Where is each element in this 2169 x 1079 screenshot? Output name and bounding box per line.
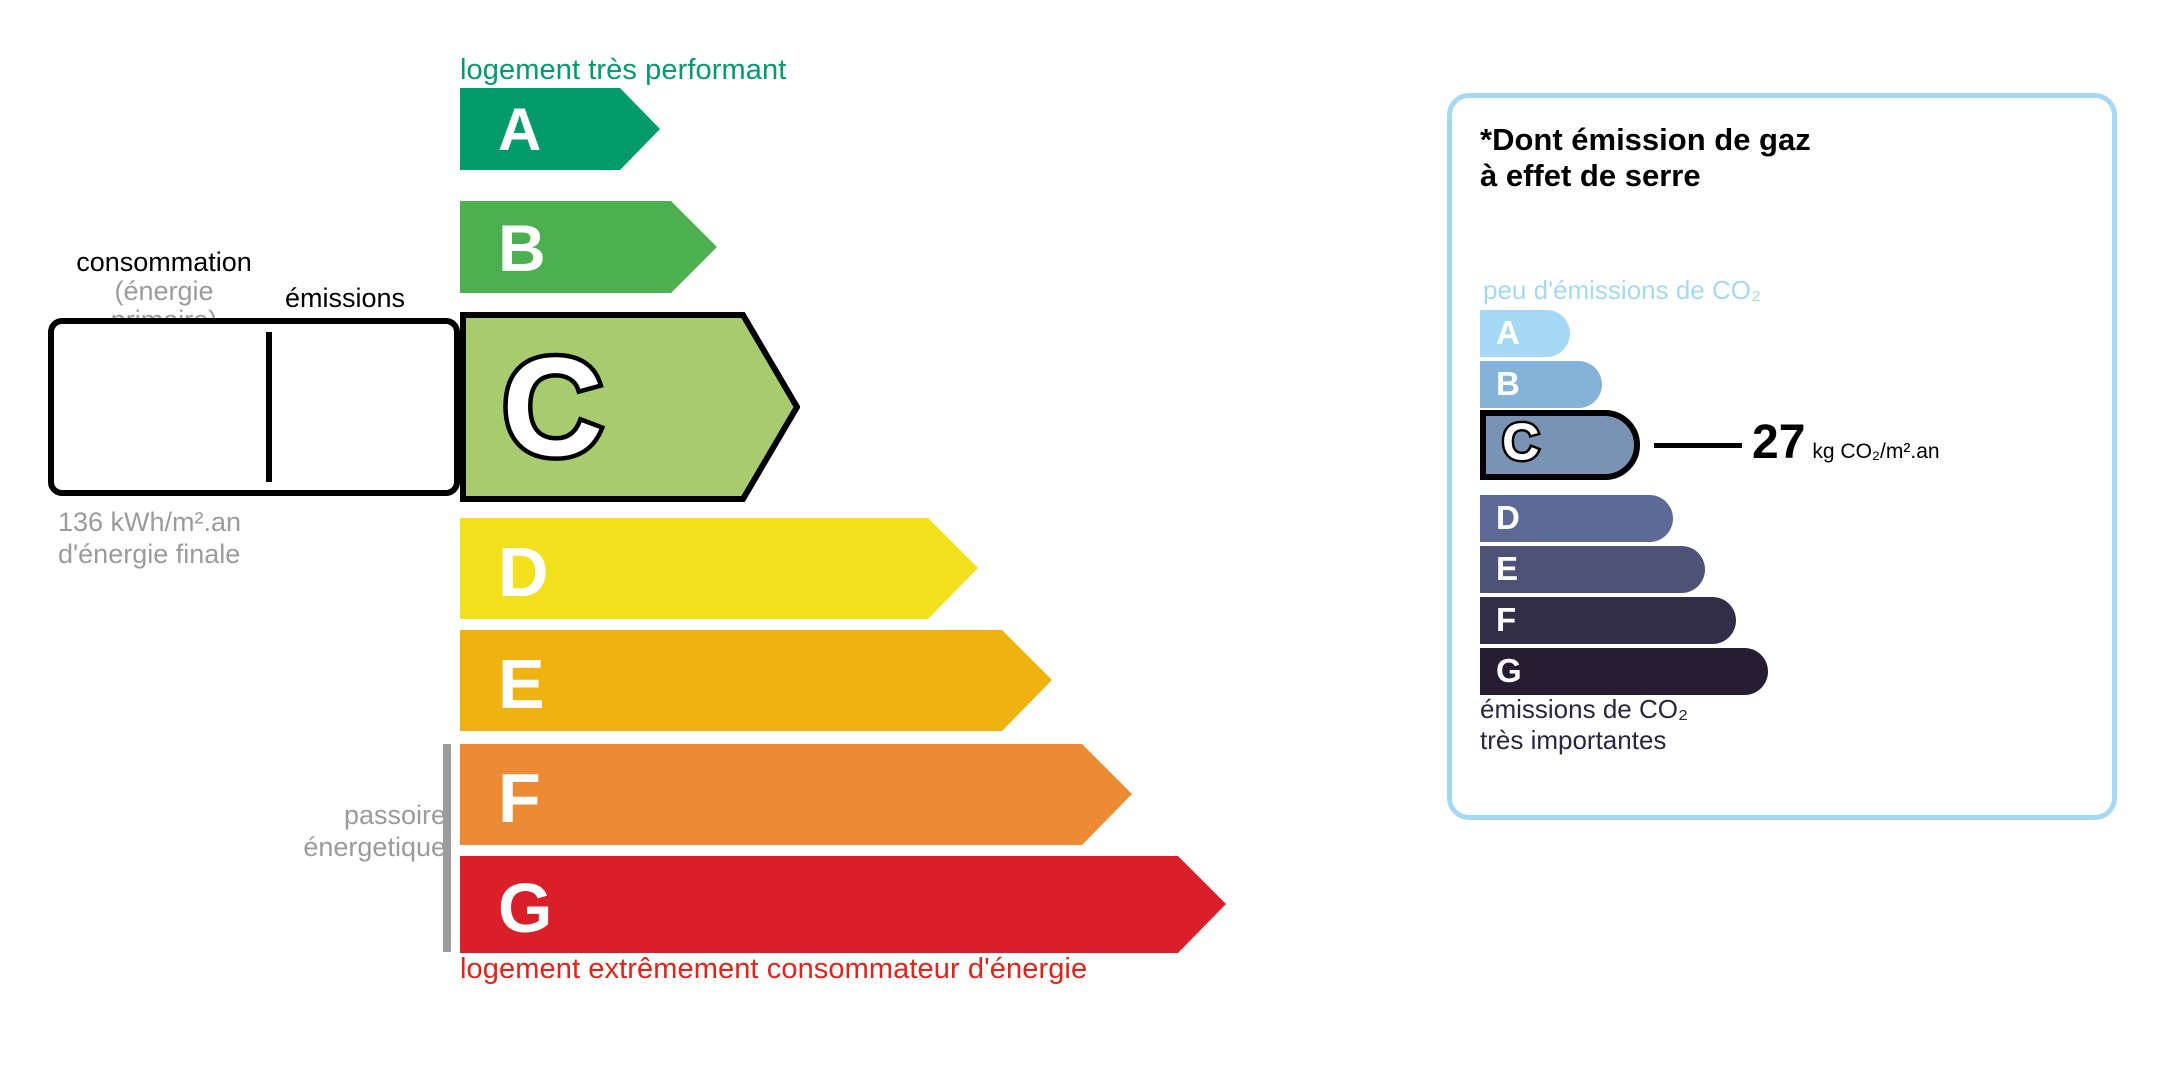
- co2-title-line2: à effet de serre: [1480, 158, 1811, 194]
- energy-band-a: A: [460, 88, 660, 170]
- passoire-line2: énergetique: [256, 832, 446, 864]
- box-divider: [266, 332, 272, 482]
- co2-band-g-letter: G: [1496, 652, 1522, 690]
- co2-title-line1: *Dont émission de gaz: [1480, 122, 1811, 158]
- final-energy-line1: 136 kWh/m².an: [58, 507, 241, 539]
- co2-band-f: F: [1480, 597, 1736, 644]
- energy-scale-top-label: logement très performant: [460, 54, 786, 87]
- co2-band-b-letter: B: [1496, 365, 1520, 403]
- energy-band-g: G: [460, 856, 1226, 953]
- passoire-bracket: [443, 744, 451, 952]
- svg-text:F: F: [498, 759, 541, 837]
- co2-band-b: B: [1480, 361, 1602, 408]
- passoire-line1: passoire: [256, 800, 446, 832]
- consumption-label-main: consommation: [76, 247, 252, 277]
- svg-text:G: G: [498, 869, 552, 947]
- co2-band-g: G: [1480, 648, 1768, 695]
- co2-value: 27: [1752, 416, 1805, 469]
- co2-band-a: A: [1480, 310, 1570, 357]
- svg-text:C: C: [502, 328, 603, 485]
- co2-bottom-line1: émissions de CO₂: [1480, 694, 1688, 725]
- co2-band-a-letter: A: [1496, 314, 1520, 352]
- energy-band-c-highlighted: C: [460, 312, 800, 502]
- co2-band-e-letter: E: [1496, 550, 1518, 588]
- energy-band-e: E: [460, 630, 1052, 731]
- energy-band-d: D: [460, 518, 978, 619]
- emissions-label: émissions: [285, 283, 405, 314]
- co2-bottom-line2: très importantes: [1480, 725, 1688, 756]
- co2-value-group: 27kg CO₂/m².an: [1752, 415, 1940, 470]
- co2-band-f-letter: F: [1496, 601, 1516, 639]
- final-energy-note: 136 kWh/m².an d'énergie finale: [58, 507, 241, 571]
- co2-band-d-letter: D: [1496, 499, 1520, 537]
- co2-leader-line: [1654, 443, 1742, 448]
- co2-panel-title: *Dont émission de gaz à effet de serre: [1480, 122, 1811, 194]
- svg-text:E: E: [498, 645, 545, 723]
- svg-text:A: A: [498, 96, 541, 163]
- co2-top-label: peu d'émissions de CO₂: [1483, 275, 1761, 306]
- svg-text:D: D: [498, 533, 549, 611]
- final-energy-line2: d'énergie finale: [58, 539, 241, 571]
- energy-scale-section: logement très performant A B C D E: [0, 0, 1400, 1079]
- passoire-energetique-label: passoire énergetique: [256, 800, 446, 864]
- energy-band-f: F: [460, 744, 1132, 845]
- svg-text:B: B: [498, 211, 546, 285]
- energy-band-b: B: [460, 201, 717, 293]
- consumption-emission-box: [48, 318, 460, 496]
- dpe-chart-root: logement très performant A B C D E: [0, 0, 2169, 1079]
- co2-band-e: E: [1480, 546, 1705, 593]
- co2-band-c-letter: C: [1502, 413, 1540, 473]
- energy-scale-bottom-label: logement extrêmement consommateur d'éner…: [460, 953, 1087, 986]
- co2-bottom-label: émissions de CO₂ très importantes: [1480, 694, 1688, 756]
- co2-band-c-highlighted: C: [1480, 410, 1640, 480]
- co2-band-d: D: [1480, 495, 1673, 542]
- co2-unit: kg CO₂/m².an: [1812, 440, 1939, 463]
